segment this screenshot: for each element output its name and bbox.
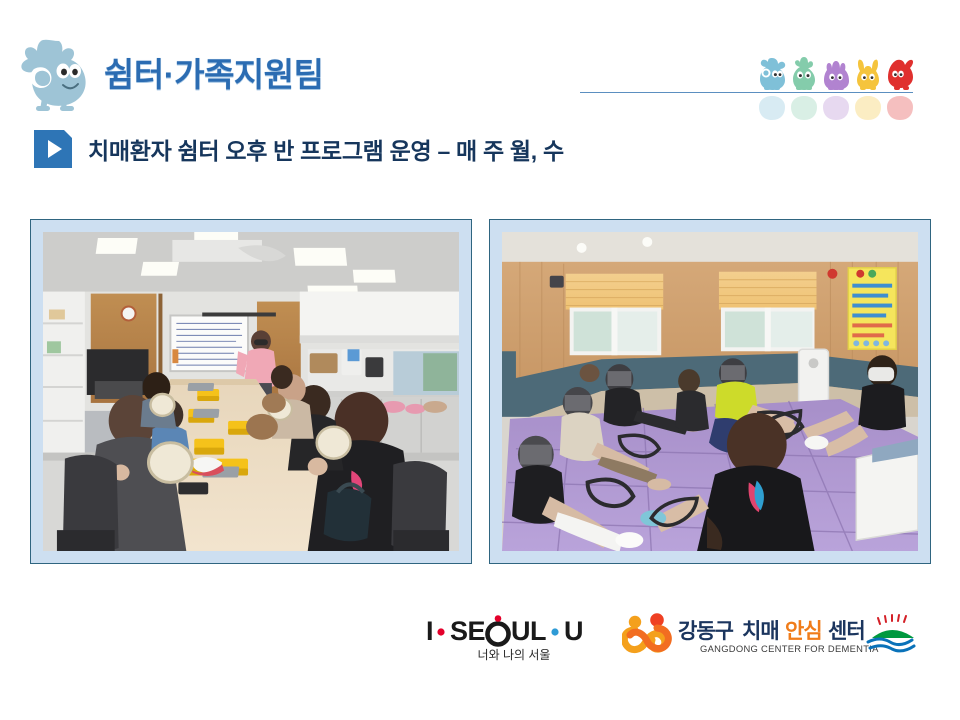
header-divider-rule	[580, 92, 913, 93]
mascot-red-reflection-icon	[886, 96, 914, 122]
mascot-green-reflection-icon	[790, 96, 818, 122]
mascot-yellow-reflection-icon	[854, 96, 882, 122]
mascot-blue-icon	[758, 56, 786, 90]
svg-text:치매: 치매	[742, 620, 779, 643]
seoul-tagline: 너와 나의 서울	[478, 648, 551, 662]
svg-text:센터: 센터	[828, 620, 865, 643]
subtitle-text: 치매환자 쉼터 오후 반 프로그램 운영 – 매 주 월, 수	[88, 132, 564, 166]
photo-frame-left	[30, 219, 472, 564]
svg-text:안심: 안심	[785, 620, 822, 643]
photo-classroom-program	[43, 232, 459, 551]
gangdong-center-for-dementia-logo: 강동구 치매 안심 센터 GANGDONG CENTER FOR DEMENTI…	[622, 612, 927, 664]
footer-logo-row: I SE UL U 너와 나의 서울 강동구 치매 안심 센터 GA	[0, 600, 960, 680]
svg-text:SE: SE	[450, 616, 485, 646]
page-header: 쉼터·가족지원팀	[0, 0, 960, 118]
play-triangle-icon	[34, 130, 72, 168]
svg-text:I: I	[426, 616, 434, 646]
mascot-green-icon	[790, 56, 818, 90]
svg-text:UL: UL	[511, 616, 546, 646]
blob-mascot-icon	[18, 36, 94, 112]
header-mascot-row	[758, 50, 918, 90]
mascot-yellow-icon	[854, 56, 882, 90]
mascot-blue-reflection-icon	[758, 96, 786, 122]
mascot-purple-icon	[822, 56, 850, 90]
photo-exercise-program	[502, 232, 918, 551]
gangdong-subtitle: GANGDONG CENTER FOR DEMENTIA	[700, 643, 879, 654]
two-people-infinity-icon	[624, 613, 668, 649]
i-seoul-u-logo: I SE UL U 너와 나의 서울	[424, 612, 604, 668]
mascot-red-icon	[886, 56, 914, 90]
subtitle-row: 치매환자 쉼터 오후 반 프로그램 운영 – 매 주 월, 수	[34, 128, 564, 170]
photo-frame-right	[489, 219, 931, 564]
svg-text:U: U	[564, 616, 584, 646]
page-title: 쉼터·가족지원팀	[104, 48, 324, 96]
svg-text:강동구: 강동구	[678, 620, 734, 643]
gangdong-gu-emblem-icon	[868, 615, 914, 651]
mascot-purple-reflection-icon	[822, 96, 850, 122]
